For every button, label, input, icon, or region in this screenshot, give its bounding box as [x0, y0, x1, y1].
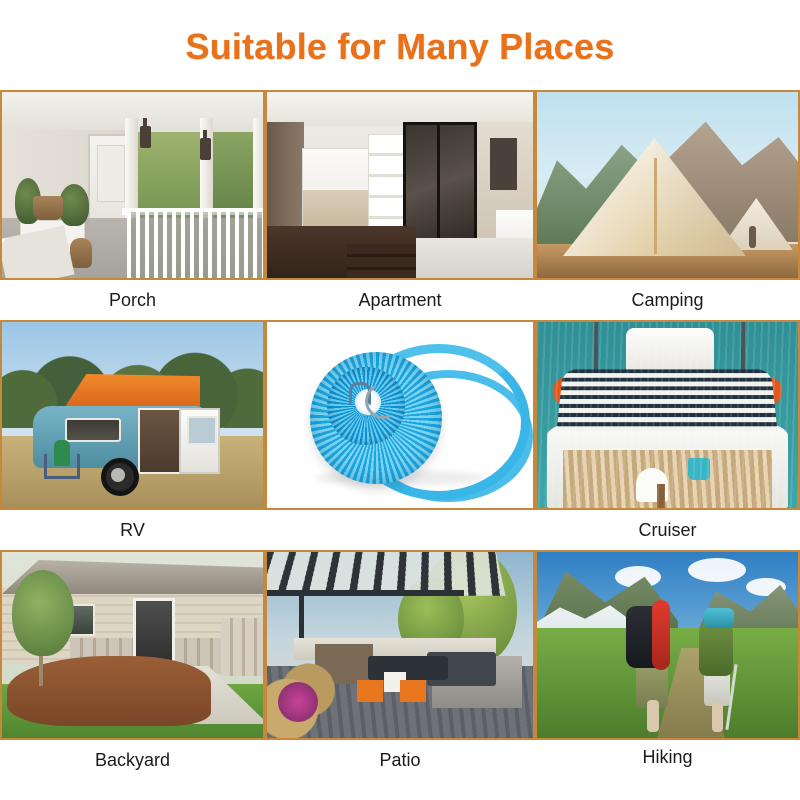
cruiser-wheel-post — [657, 484, 665, 510]
porch-plant-2 — [59, 184, 89, 226]
hiking-hiker-1-legs — [647, 700, 659, 732]
caption-rv: RV — [0, 510, 265, 550]
product-photo — [265, 320, 535, 510]
cruiser-mast-right — [741, 322, 745, 422]
rv-open-door — [179, 408, 220, 474]
caption-product — [265, 510, 535, 550]
patio-ottoman-2 — [400, 680, 426, 702]
grid-cell-backyard[interactable]: Backyard — [0, 550, 265, 780]
page-title: Suitable for Many Places — [0, 26, 800, 68]
rv-window — [65, 418, 121, 442]
rv-doorway — [138, 408, 184, 474]
grid-cell-cruiser[interactable]: Cruiser — [535, 320, 800, 550]
backyard-tree-canopy — [12, 570, 74, 656]
apartment-cabinetry — [302, 148, 373, 228]
cruiser-photo — [535, 320, 800, 510]
cruiser-hull — [547, 414, 787, 510]
infographic-page: Suitable for Many Places — [0, 0, 800, 800]
rv-photo — [0, 320, 265, 510]
apartment-tile-floor — [416, 238, 533, 278]
hiking-sleeping-bag-red — [652, 600, 670, 670]
grid-cell-hiking[interactable]: Hiking — [535, 550, 800, 780]
backyard-stone-column — [221, 618, 263, 676]
cruiser-bucket — [688, 458, 710, 480]
grid-cell-apartment[interactable]: Apartment — [265, 90, 535, 320]
cruiser-mast-left — [594, 322, 598, 428]
caption-apartment: Apartment — [265, 280, 535, 320]
porch-lantern-2 — [200, 138, 211, 160]
apartment-steps — [347, 244, 416, 278]
porch-railing — [127, 212, 263, 278]
porch-basket-1 — [33, 196, 63, 220]
grid-cell-porch[interactable]: Porch — [0, 90, 265, 320]
cruiser-life-ring-left — [553, 378, 573, 404]
rv-person — [54, 440, 70, 466]
porch-basket-2 — [70, 238, 92, 268]
caption-cruiser: Cruiser — [535, 510, 800, 550]
camping-tent-pole — [654, 158, 657, 254]
grid-row-1: Porch Apartment — [0, 90, 800, 320]
cruiser-life-ring-right — [762, 378, 782, 404]
hiking-sleeping-pad-teal — [704, 608, 734, 628]
apartment-left-wall — [267, 122, 304, 242]
apartment-dark-panel — [490, 138, 517, 190]
apartment-ceiling — [267, 92, 533, 126]
caption-camping: Camping — [535, 280, 800, 320]
camping-person — [749, 226, 756, 248]
camping-photo — [535, 90, 800, 280]
places-grid: Porch Apartment — [0, 90, 800, 780]
cruiser-striped-awning — [557, 369, 778, 430]
hiking-hiker-2-legs — [712, 702, 723, 732]
patio-photo — [265, 550, 535, 740]
grid-cell-rv[interactable]: RV — [0, 320, 265, 550]
grid-row-2: RV — [0, 320, 800, 550]
porch-lantern-1 — [140, 126, 151, 148]
hiking-cloud-2 — [688, 558, 746, 582]
caption-backyard: Backyard — [0, 740, 265, 780]
grid-cell-patio[interactable]: Patio — [265, 550, 535, 780]
backyard-photo — [0, 550, 265, 740]
hiking-backpack-2 — [699, 624, 733, 676]
apartment-photo — [265, 90, 535, 280]
porch-photo — [0, 90, 265, 280]
cruiser-helm-seat — [636, 468, 668, 502]
grid-cell-camping[interactable]: Camping — [535, 90, 800, 320]
patio-pergola-beam — [267, 590, 464, 596]
caption-porch: Porch — [0, 280, 265, 320]
cruiser-furled-sail — [626, 328, 715, 376]
patio-sofa — [368, 656, 448, 680]
grid-cell-product[interactable] — [265, 320, 535, 550]
rv-wheel — [101, 458, 139, 496]
hiking-photo — [535, 550, 800, 740]
caption-patio: Patio — [265, 740, 535, 780]
caption-hiking: Hiking — [535, 740, 800, 780]
cruiser-teak-deck — [563, 450, 772, 510]
grid-row-3: Backyard — [0, 550, 800, 780]
patio-ottoman-1 — [357, 680, 383, 702]
patio-flowers — [278, 682, 318, 722]
